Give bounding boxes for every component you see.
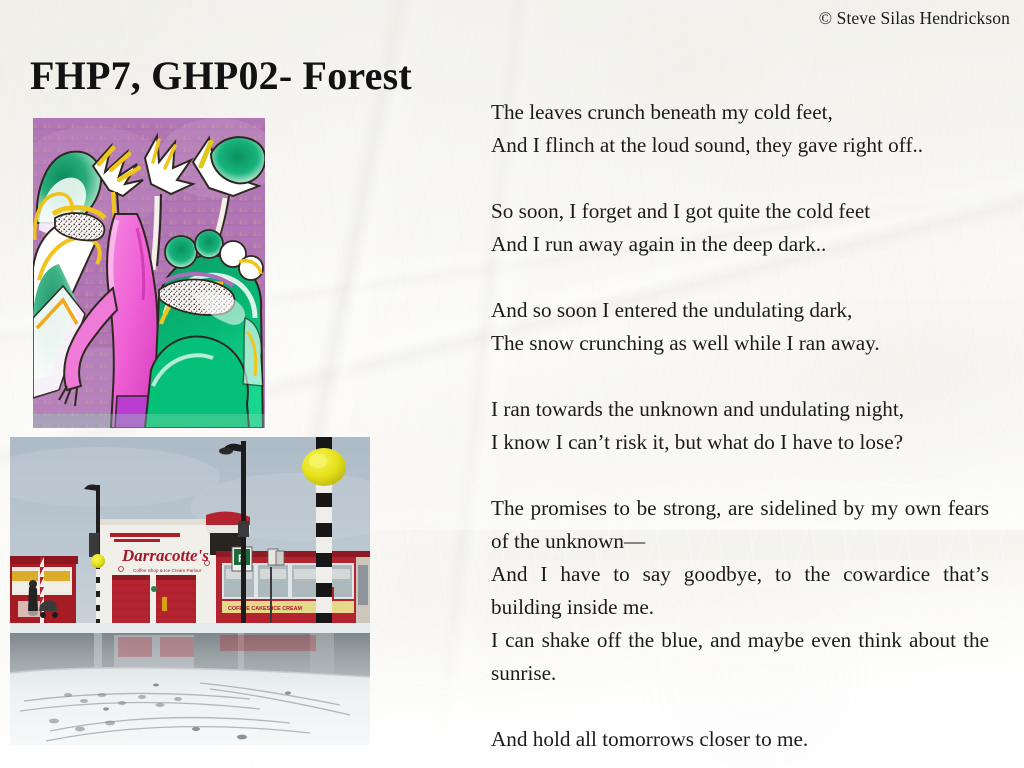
photograph-svg: Darracotte's Coffee Shop & Ice Cream Par…	[10, 437, 370, 745]
poem-stanza: I ran towards the unknown and undulating…	[491, 393, 989, 459]
poem-line: I ran towards the unknown and undulating…	[491, 393, 989, 426]
artwork-svg	[33, 118, 265, 428]
poem-line: And I flinch at the loud sound, they gav…	[491, 129, 989, 162]
slide-canvas: © Steve Silas Hendrickson FHP7, GHP02- F…	[0, 0, 1024, 768]
poem-line: The promises to be strong, are sidelined…	[491, 492, 989, 558]
poem-stanza: And hold all tomorrows closer to me.	[491, 723, 989, 756]
shop-subtitle-text: Coffee Shop & Ice Cream Parlour	[133, 568, 202, 573]
photograph-image: Darracotte's Coffee Shop & Ice Cream Par…	[10, 437, 370, 745]
poem-stanza: The leaves crunch beneath my cold feet, …	[491, 96, 989, 162]
copyright-notice: © Steve Silas Hendrickson	[819, 8, 1010, 29]
poem-line: The snow crunching as well while I ran a…	[491, 327, 989, 360]
poem-line: And I run away again in the deep dark..	[491, 228, 989, 261]
poem-stanza: So soon, I forget and I got quite the co…	[491, 195, 989, 261]
poem-line: And I have to say goodbye, to the coward…	[491, 558, 989, 624]
poem-line: So soon, I forget and I got quite the co…	[491, 195, 989, 228]
poem-line: I can shake off the blue, and maybe even…	[491, 624, 989, 690]
poem-body: The leaves crunch beneath my cold feet, …	[491, 96, 989, 756]
poem-stanza: The promises to be strong, are sidelined…	[491, 492, 989, 690]
poem-line: And so soon I entered the undulating dar…	[491, 294, 989, 327]
poem-line: The leaves crunch beneath my cold feet,	[491, 96, 989, 129]
poem-line: I know I can’t risk it, but what do I ha…	[491, 426, 989, 459]
artwork-image	[33, 118, 265, 428]
poem-line: And hold all tomorrows closer to me.	[491, 723, 989, 756]
poem-stanza: And so soon I entered the undulating dar…	[491, 294, 989, 360]
shop-sign-text: Darracotte's	[121, 546, 209, 565]
page-title: FHP7, GHP02- Forest	[30, 54, 412, 99]
shop-window-signs: COFFEE CAKES ICE CREAM	[228, 606, 302, 612]
